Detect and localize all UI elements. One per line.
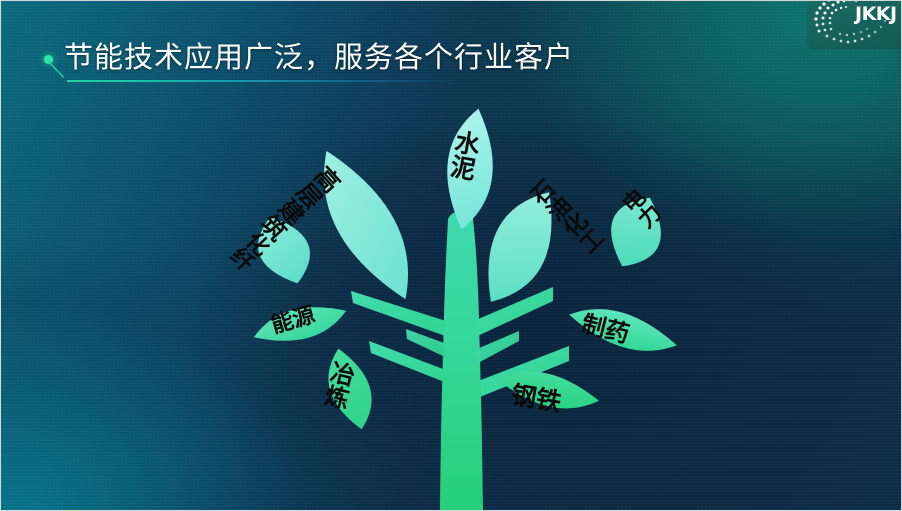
page-title: 节能技术应用广泛，服务各个行业客户 bbox=[64, 41, 574, 75]
tree-trunk bbox=[440, 211, 483, 511]
title-underline bbox=[67, 80, 535, 82]
leaf-power[interactable] bbox=[598, 188, 674, 276]
logo[interactable]: JKKJ bbox=[807, 0, 902, 49]
leaf-chemfiber[interactable] bbox=[248, 207, 320, 292]
leaf-smelting[interactable] bbox=[320, 343, 381, 434]
leaf-highrise[interactable] bbox=[302, 138, 429, 312]
leaf-cement[interactable] bbox=[439, 105, 502, 232]
logo-wordmark: JKKJ bbox=[855, 3, 897, 25]
slide-canvas: 节能技术应用广泛，服务各个行业客户 bbox=[0, 0, 902, 511]
industry-tree-diagram bbox=[201, 91, 721, 511]
leaf-energy[interactable] bbox=[250, 296, 351, 352]
leaf-pharma[interactable] bbox=[565, 299, 682, 362]
